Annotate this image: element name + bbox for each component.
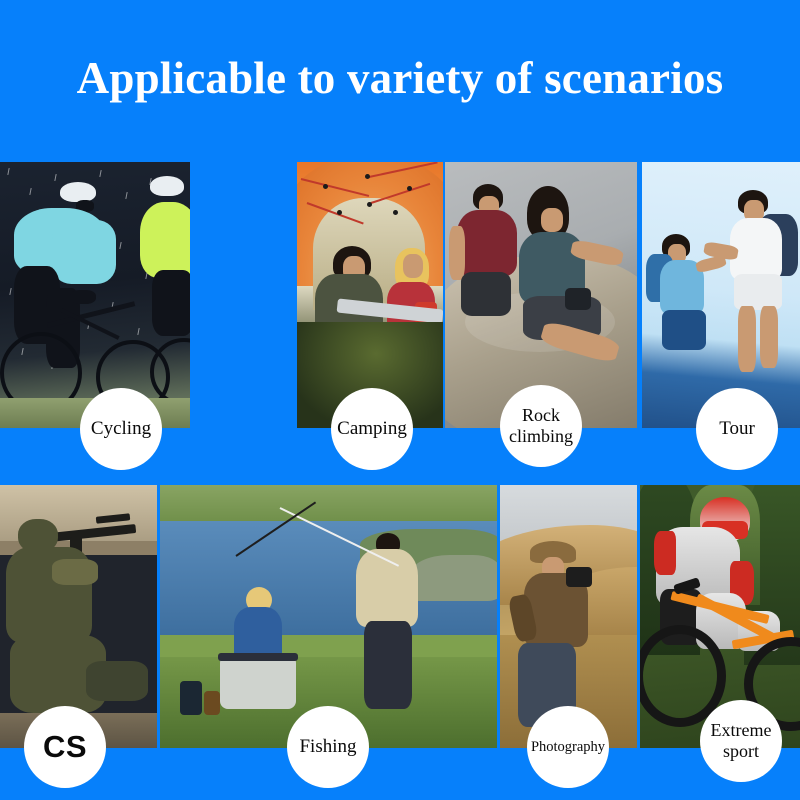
badge-cycling[interactable]: Cycling: [80, 388, 162, 470]
badge-label: CS: [40, 736, 90, 758]
scene-panel-cycling: [0, 162, 190, 428]
badge-label: Cycling: [88, 418, 154, 440]
badge-label: Extreme sport: [700, 720, 782, 762]
badge-label: Tour: [716, 418, 758, 440]
cycling-image: [0, 162, 190, 428]
scene-panel-tour: [642, 162, 800, 428]
tour-image: [642, 162, 800, 428]
badge-label: Rock climbing: [500, 405, 582, 447]
badge-rock-climbing[interactable]: Rock climbing: [500, 385, 582, 467]
badge-label: Camping: [334, 418, 410, 440]
badge-cs[interactable]: CS: [24, 706, 106, 788]
badge-tour[interactable]: Tour: [696, 388, 778, 470]
badge-photography[interactable]: Photography: [527, 706, 609, 788]
promo-banner: Applicable to variety of scenarios: [0, 0, 800, 800]
badge-extreme-sport[interactable]: Extreme sport: [700, 700, 782, 782]
badge-fishing[interactable]: Fishing: [287, 706, 369, 788]
page-title: Applicable to variety of scenarios: [0, 52, 800, 104]
badge-label: Fishing: [296, 736, 359, 758]
badge-label: Photography: [528, 739, 608, 756]
badge-camping[interactable]: Camping: [331, 388, 413, 470]
